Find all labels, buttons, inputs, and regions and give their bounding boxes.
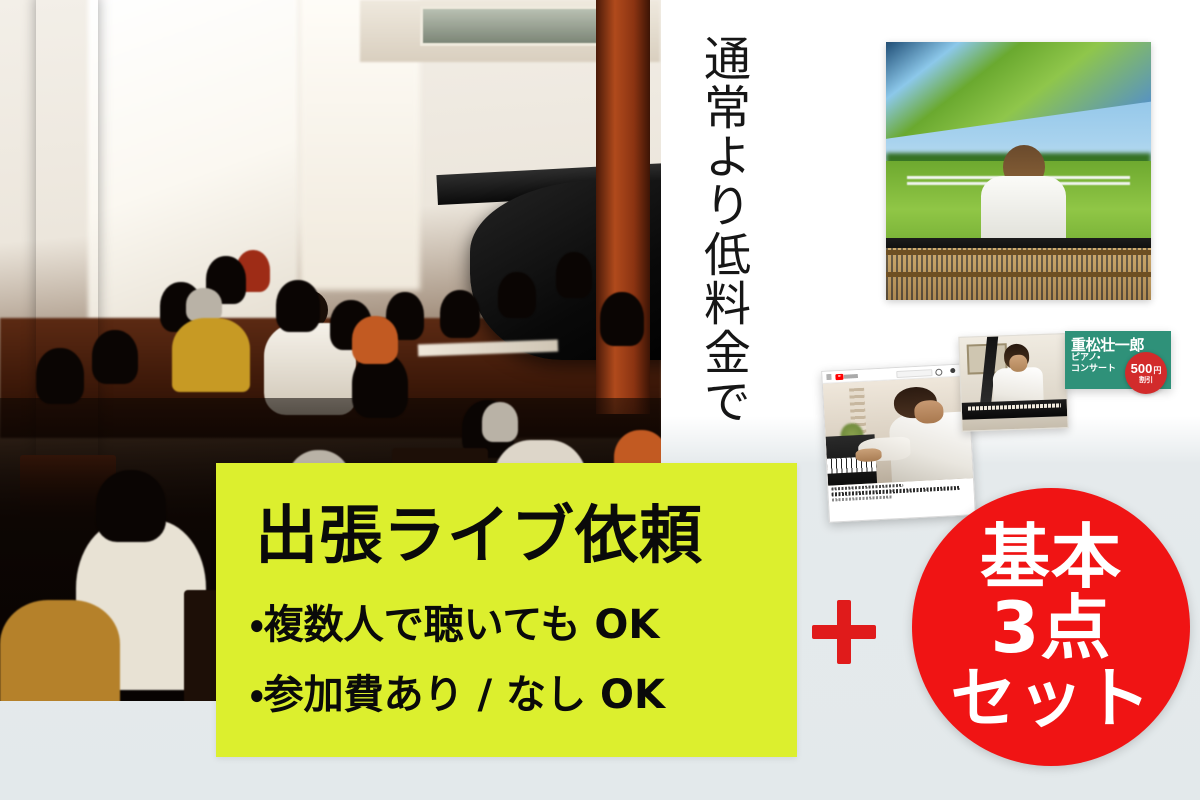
set-badge-line-2: 3点 [991, 593, 1112, 664]
promo-subtitle-line1: ピアノ・ [1071, 352, 1116, 363]
audience-head [600, 292, 644, 346]
set-badge-line-3: セット [951, 665, 1152, 732]
audience-head [36, 348, 84, 404]
audience-head [276, 280, 320, 332]
yt-pianist-face [914, 400, 944, 424]
audience-head [482, 402, 518, 442]
album-cover-photo [886, 42, 1151, 300]
audience-head [556, 252, 592, 298]
play-icon [835, 373, 843, 379]
hall-wall-painting [420, 6, 616, 46]
avatar-icon[interactable] [950, 368, 955, 373]
concert-photo-card [958, 333, 1068, 432]
discount-amount: 500 [1131, 362, 1153, 375]
audience-head [186, 288, 222, 322]
album-harp-bar [886, 272, 1151, 277]
audience-head [498, 272, 536, 318]
discount-amount-row: 500 円 [1131, 362, 1162, 375]
audience-head [96, 470, 166, 542]
album-piano-harp [886, 248, 1151, 300]
audience-body [0, 600, 120, 701]
promo-subtitle-line2: コンサート [1071, 363, 1116, 374]
headline-bullet-2: ・参加費あり / なし OK [250, 662, 665, 720]
search-input[interactable] [896, 369, 932, 378]
youtube-screenshot-card[interactable] [821, 363, 976, 522]
youtube-video-thumbnail[interactable] [823, 376, 973, 485]
headline-title: 出張ライブ依頼 [255, 485, 703, 576]
album-harp-bar [886, 250, 1151, 255]
poster-canvas: 通常より低料金で [0, 0, 1200, 800]
headline-bullet-1: ・複数人で聴いても OK [250, 592, 659, 650]
yt-pianist-hand [855, 448, 882, 462]
promo-subtitle: ピアノ・ コンサート [1071, 352, 1116, 374]
plus-icon [812, 600, 876, 664]
yt-stats-line [832, 495, 893, 501]
menu-icon[interactable] [826, 374, 831, 379]
discount-badge: 500 円 割引 [1125, 352, 1167, 394]
promo-card[interactable]: 重松壮一郎 ピアノ・ コンサート 500 円 割引 [1065, 331, 1171, 389]
headline-box: 出張ライブ依頼 ・複数人で聴いても OK ・参加費あり / なし OK [216, 463, 797, 757]
set-badge-line-1: 基本 [980, 522, 1122, 593]
hall-column-right [596, 0, 650, 414]
youtube-logo-icon[interactable] [835, 373, 857, 380]
search-icon[interactable] [935, 369, 942, 376]
discount-label: 割引 [1139, 377, 1153, 384]
audience-head [440, 290, 480, 338]
audience-head [352, 316, 398, 364]
set-badge: 基本 3点 セット [912, 488, 1190, 766]
discount-currency: 円 [1153, 367, 1161, 375]
vertical-tagline: 通常より低料金で [676, 34, 750, 434]
youtube-wordmark [844, 374, 857, 379]
audience-body [172, 318, 250, 392]
audience-head [92, 330, 138, 384]
